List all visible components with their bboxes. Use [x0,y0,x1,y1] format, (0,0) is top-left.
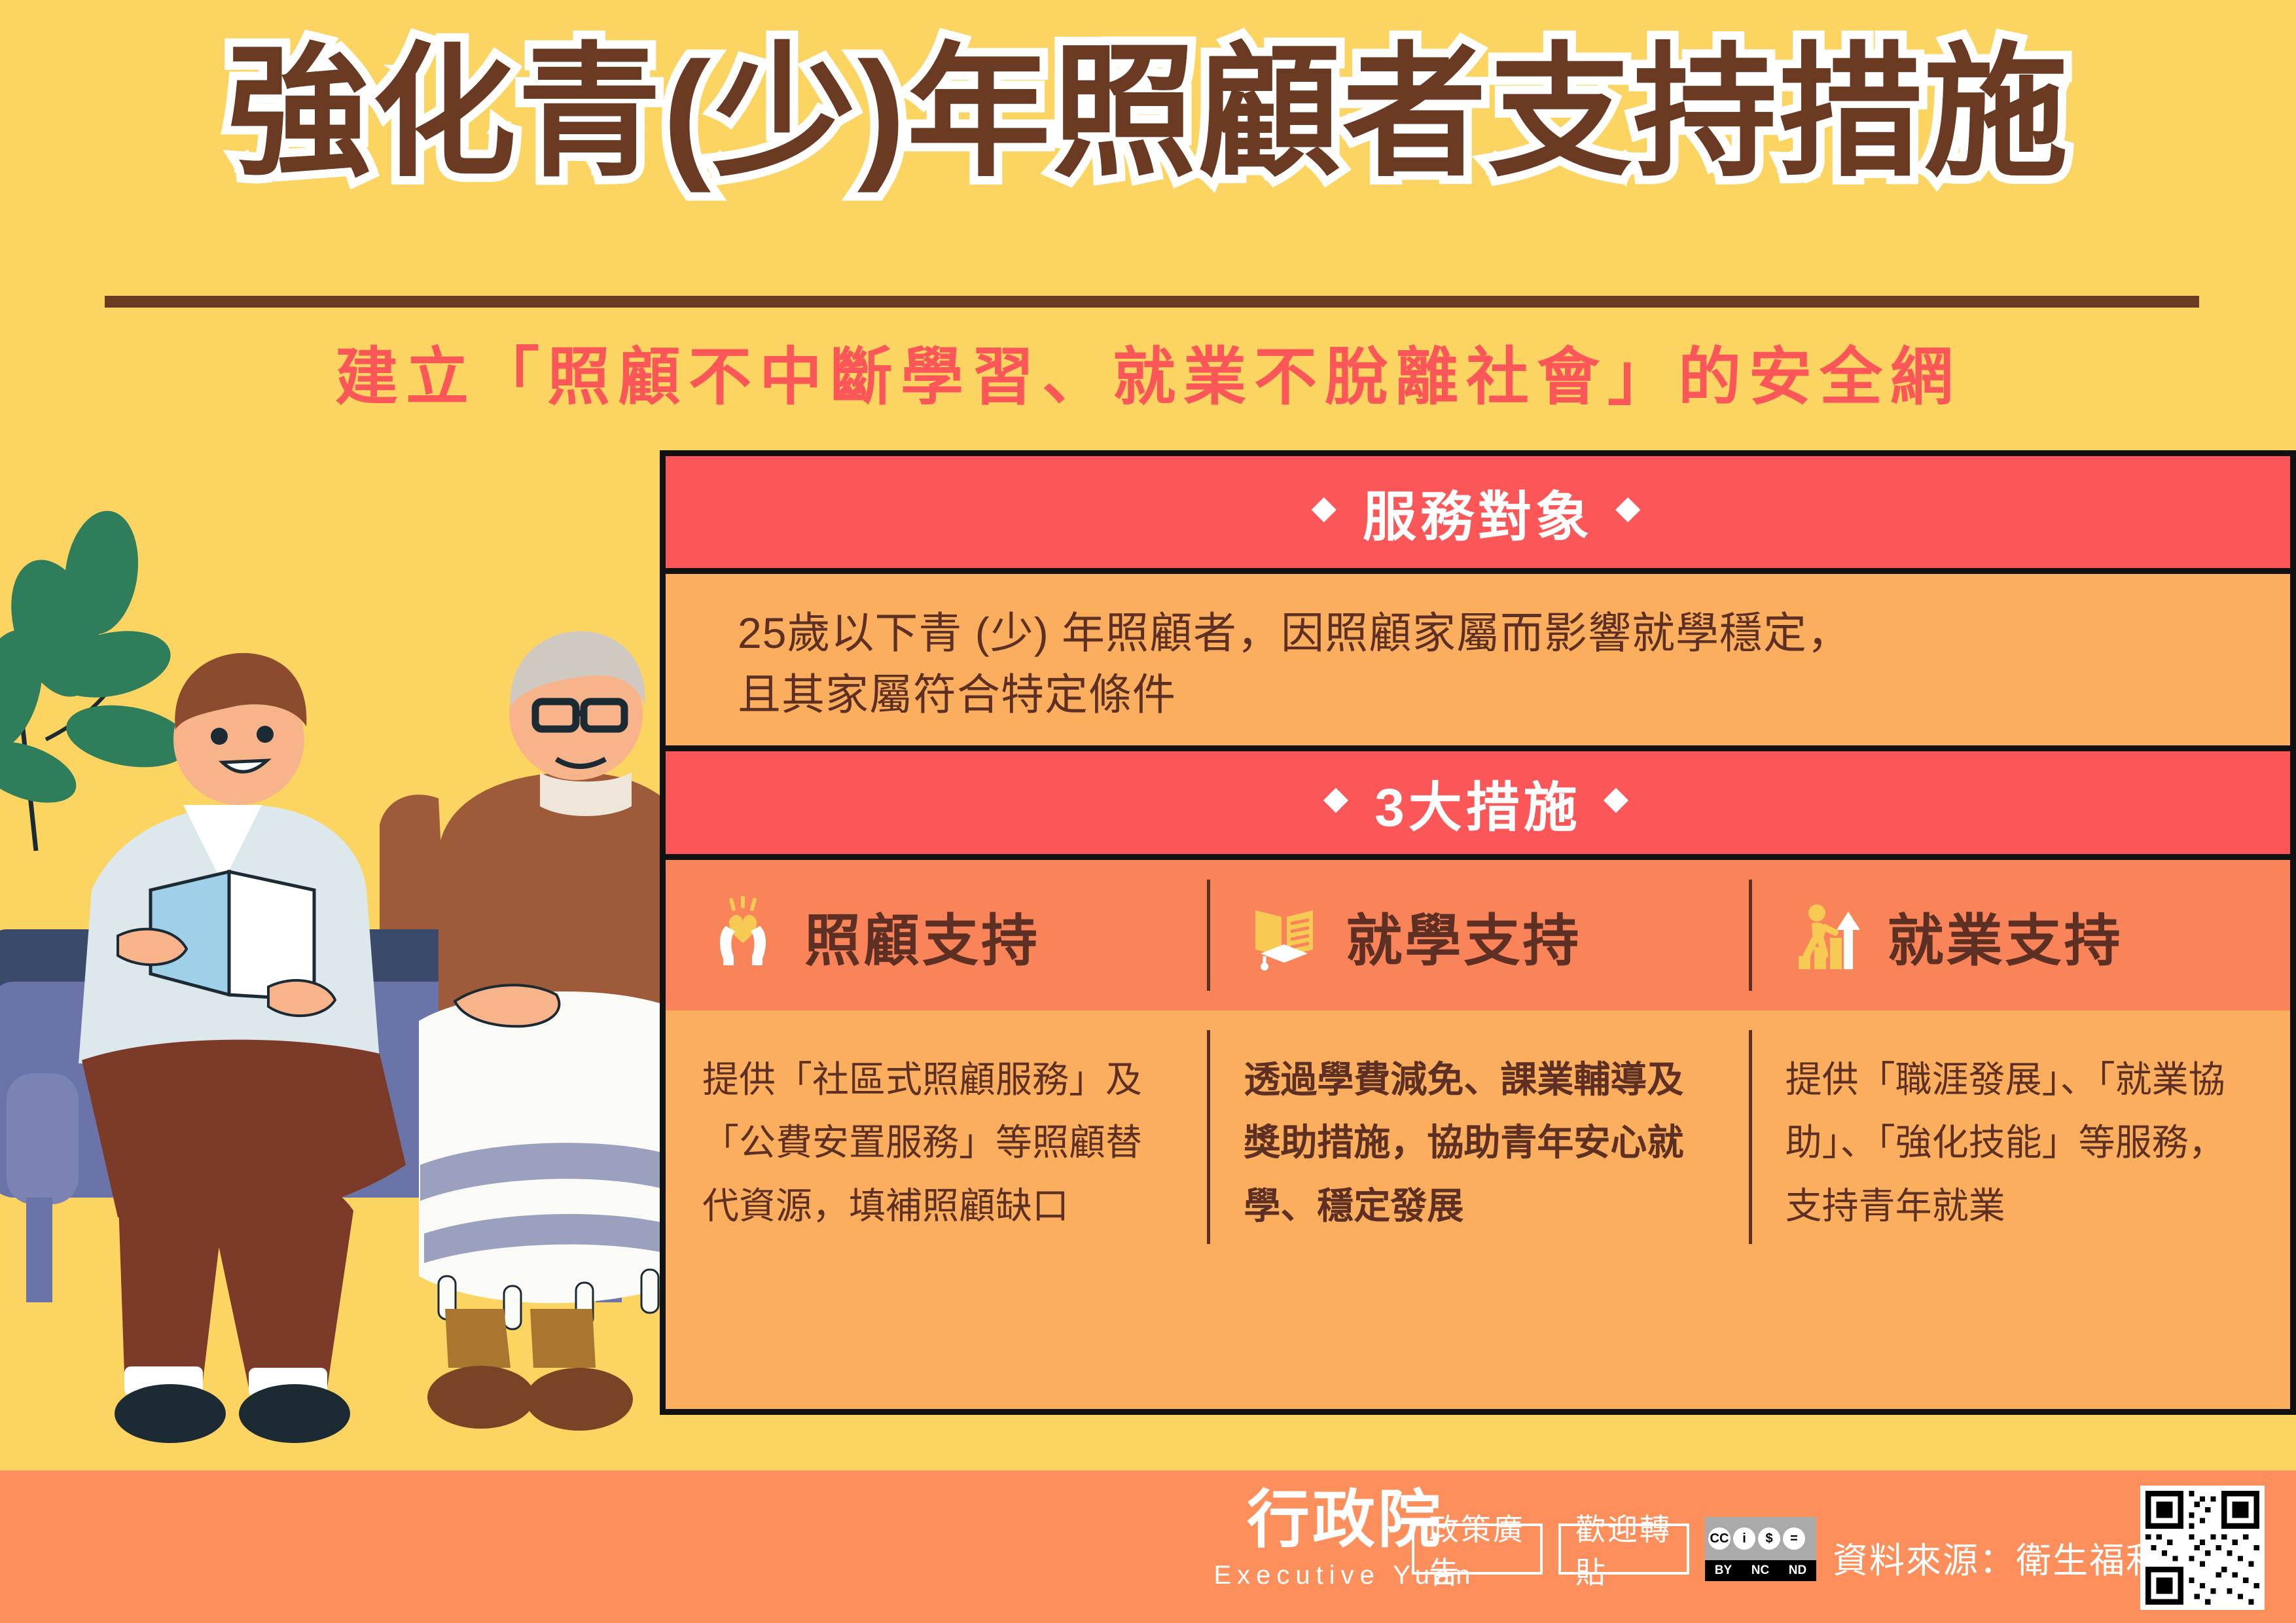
title-divider [105,296,2199,308]
elderly-man-figure [380,632,697,1431]
page-subtitle: 建立「照顧不中斷學習、就業不脫離社會」的安全網 [0,326,2296,417]
measures-title: 3大措施 [1374,764,1581,842]
service-target-text: 25歲以下青 (少) 年照顧者，因照顧家屬而影響就學穩定， 且其家屬符合特定條件 [666,574,2290,745]
diamond-left-icon: ◆ [1323,779,1352,817]
measure-label-education: 就學支持 [1346,895,1581,976]
welcome-repost-badge: 歡迎轉貼 [1558,1524,1689,1575]
diamond-right-icon: ◆ [1615,488,1644,526]
measure-header-care: 照顧支持 [666,860,1207,1010]
measures-band: ◆ 3大措施 ◆ [666,745,2290,860]
main-panel: ◆ 服務對象 ◆ 25歲以下青 (少) 年照顧者，因照顧家屬而影響就學穩定， 且… [660,450,2296,1415]
diamond-left-icon: ◆ [1312,488,1340,526]
measure-body-employment: 提供「職涯發展」、「就業協助」、「強化技能」等服務，支持青年就業 [1749,1010,2290,1264]
diamond-right-icon: ◆ [1604,779,1632,817]
book-graduation-cap-icon [1245,896,1323,974]
young-caregiver-figure [79,653,406,1443]
cc-term-by: BY [1715,1563,1732,1578]
measure-body-care: 提供「社區式照顧服務」及「公費安置服務」等照顧替代資源，填補照顧缺口 [666,1010,1207,1264]
policy-ad-badge: 政策廣告 [1412,1524,1543,1575]
service-target-line-2: 且其家屬符合特定條件 [738,664,2290,726]
measure-header-education: 就學支持 [1207,860,1748,1010]
measure-label-employment: 就業支持 [1888,895,2123,976]
poster-root: 強化青(少)年照顧者支持措施 建立「照顧不中斷學習、就業不脫離社會」的安全網 [0,0,2296,1623]
illustration-caregiver-scene [0,432,700,1472]
qr-code-icon[interactable] [2140,1486,2265,1610]
measure-header-employment: 就業支持 [1749,860,2290,1010]
cc-nc-glyph: $ [1758,1527,1780,1550]
page-title: 強化青(少)年照顧者支持措施 [227,39,2070,186]
service-target-band: ◆ 服務對象 ◆ [666,456,2290,574]
title-block: 強化青(少)年照顧者支持措施 [0,39,2296,186]
measure-body-education: 透過學費減免、課業輔導及獎助措施，協助青年安心就學、穩定發展 [1207,1010,1748,1264]
service-target-line-1: 25歲以下青 (少) 年照顧者，因照顧家屬而影響就學穩定， [738,603,2290,664]
cc-mark: CC [1708,1527,1731,1550]
hands-heart-icon [704,896,782,974]
measure-bodies-row: 提供「社區式照顧服務」及「公費安置服務」等照顧替代資源，填補照顧缺口 透過學費減… [666,1010,2290,1264]
creative-commons-license-icon: CC i $ = BY NC ND [1705,1517,1816,1581]
cc-by-glyph: i [1733,1527,1755,1550]
service-target-title: 服務對象 [1363,473,1593,551]
person-growth-chart-icon [1787,896,1865,974]
cc-term-nc: NC [1751,1563,1769,1578]
potted-plant-icon [0,506,194,851]
cc-nd-glyph: = [1783,1527,1805,1550]
measure-label-care: 照顧支持 [804,895,1040,976]
cc-term-nd: ND [1789,1563,1806,1578]
striped-blanket [419,991,697,1329]
measure-headers-row: 照顧支持 [666,860,2290,1010]
